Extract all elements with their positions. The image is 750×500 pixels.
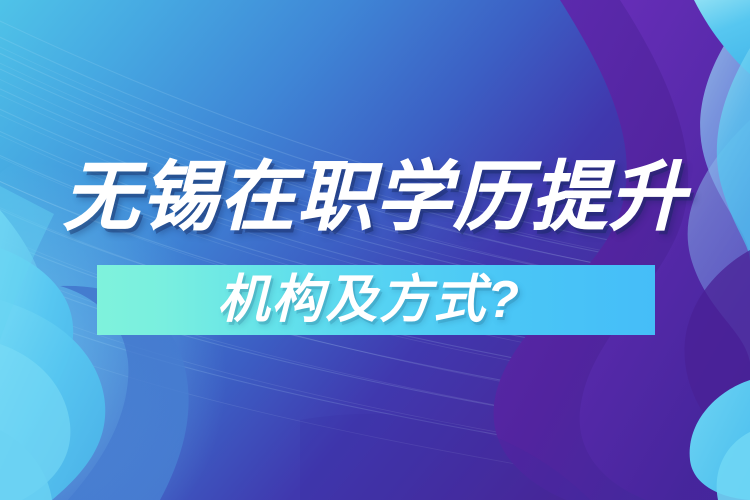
page-title: 无锡在职学历提升 — [0, 150, 750, 246]
promo-banner: 无锡在职学历提升 机构及方式? — [0, 0, 750, 500]
subtitle-text: 机构及方式? — [217, 272, 521, 328]
background-artwork — [0, 0, 750, 500]
subtitle-band: 机构及方式? — [97, 265, 655, 335]
